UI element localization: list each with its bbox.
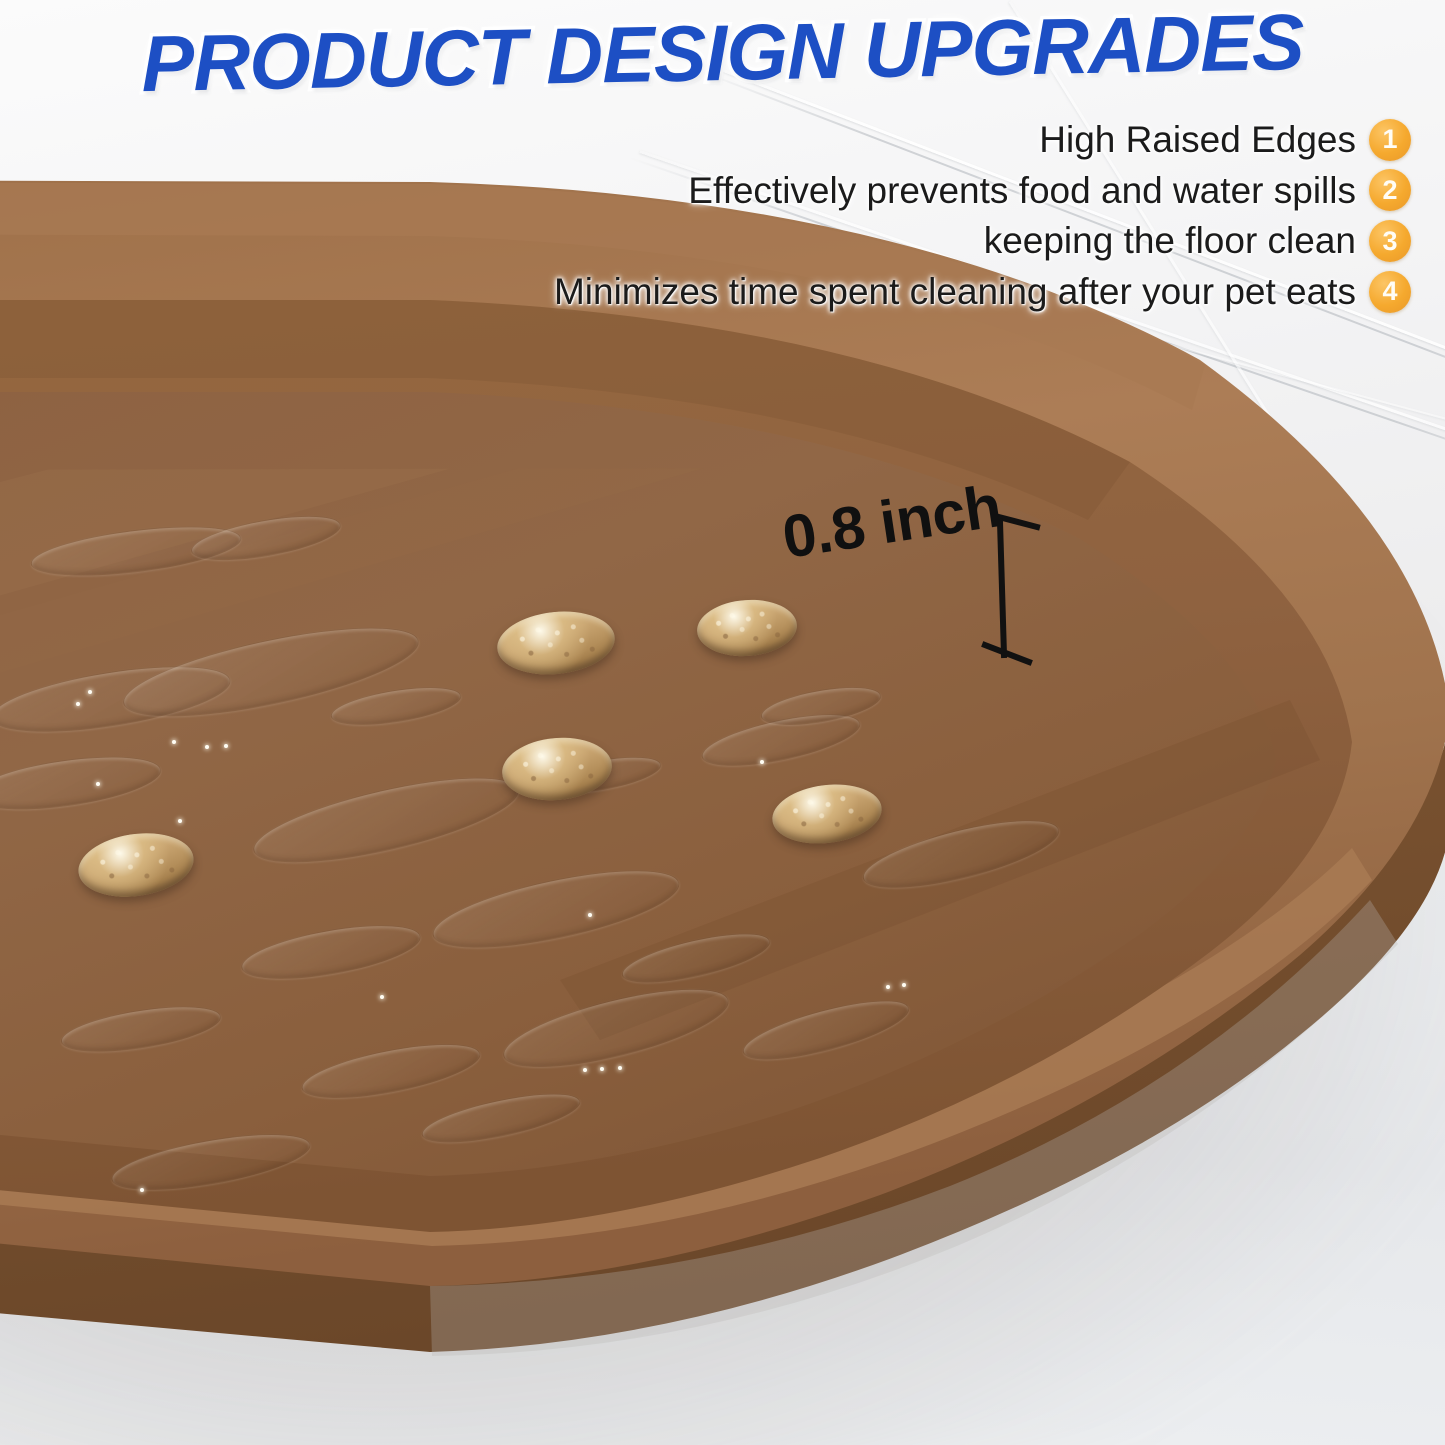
water-sparkle: [886, 985, 890, 989]
water-sparkle: [583, 1068, 587, 1072]
water-sparkle: [172, 740, 176, 744]
feature-item-1: High Raised Edges 1: [1039, 118, 1411, 162]
water-sparkle: [380, 995, 384, 999]
water-sparkle: [76, 702, 80, 706]
feature-item-4: Minimizes time spent cleaning after your…: [554, 270, 1411, 314]
feature-label: High Raised Edges: [1039, 118, 1356, 162]
water-sparkle: [760, 760, 764, 764]
water-sparkle: [902, 983, 906, 987]
water-sparkle: [224, 744, 228, 748]
water-sparkle: [178, 819, 182, 823]
feature-number-badge: 2: [1369, 169, 1411, 211]
feature-label: keeping the floor clean: [984, 219, 1356, 263]
feature-number-badge: 1: [1369, 119, 1411, 161]
feature-label: Minimizes time spent cleaning after your…: [554, 270, 1356, 314]
feature-list: High Raised Edges 1 Effectively prevents…: [511, 118, 1411, 314]
water-sparkle: [618, 1066, 622, 1070]
feature-item-3: keeping the floor clean 3: [984, 219, 1411, 263]
feature-number-badge: 4: [1369, 271, 1411, 313]
feature-label: Effectively prevents food and water spil…: [688, 169, 1356, 213]
product-marketing-image: PRODUCT DESIGN UPGRADES High Raised Edge…: [0, 0, 1445, 1445]
water-sparkle: [588, 913, 592, 917]
feature-item-2: Effectively prevents food and water spil…: [688, 169, 1411, 213]
water-sparkle: [140, 1188, 144, 1192]
water-sparkle: [96, 782, 100, 786]
water-sparkle: [600, 1067, 604, 1071]
feature-number-badge: 3: [1369, 220, 1411, 262]
water-sparkle: [205, 745, 209, 749]
water-sparkle: [88, 690, 92, 694]
